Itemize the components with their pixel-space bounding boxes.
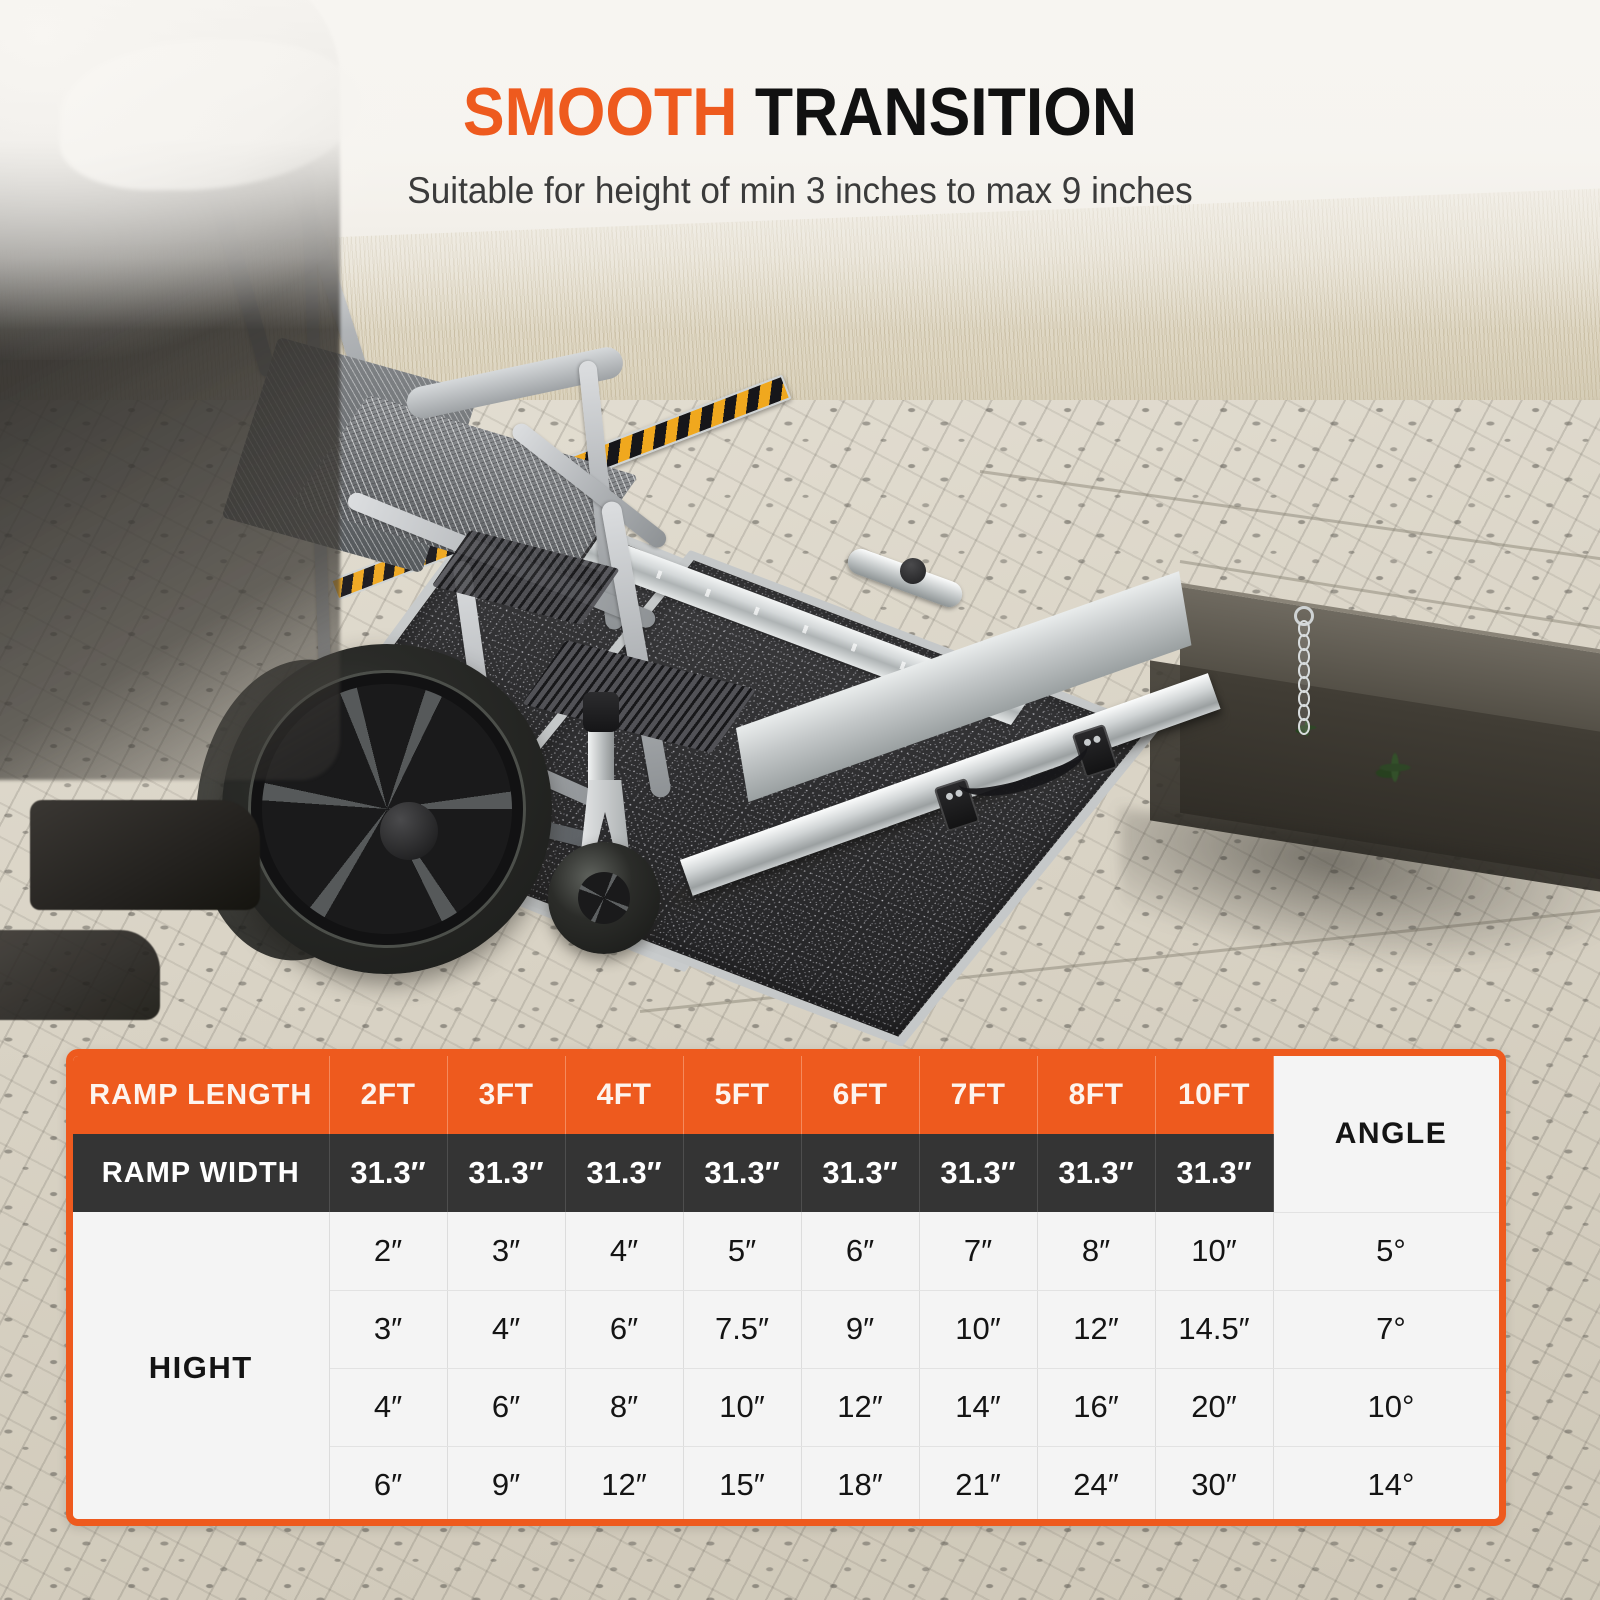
cell-angle-1: 5°: [1273, 1212, 1506, 1290]
header-ramp-length-8: 10FT: [1155, 1056, 1273, 1134]
cell-ramp-width-6: 31.3″: [919, 1134, 1037, 1212]
cell-angle-4: 14°: [1273, 1446, 1506, 1524]
spec-table-card: RAMP LENGTH2FT3FT4FT5FT6FT7FT8FT10FTANGL…: [66, 1049, 1506, 1526]
cell-height-r1-c8: 10″: [1155, 1212, 1273, 1290]
header-ramp-length-3: 4FT: [565, 1056, 683, 1134]
cell-height-r4-c3: 12″: [565, 1446, 683, 1524]
label-ramp-length: RAMP LENGTH: [73, 1056, 329, 1134]
cell-ramp-width-7: 31.3″: [1037, 1134, 1155, 1212]
cell-height-r3-c8: 20″: [1155, 1368, 1273, 1446]
cell-ramp-width-8: 31.3″: [1155, 1134, 1273, 1212]
cell-height-r1-c4: 5″: [683, 1212, 801, 1290]
attendant-shoe-second: [0, 930, 160, 1020]
cell-height-r3-c1: 4″: [329, 1368, 447, 1446]
cell-height-r2-c1: 3″: [329, 1290, 447, 1368]
header-ramp-length-7: 8FT: [1037, 1056, 1155, 1134]
cell-angle-2: 7°: [1273, 1290, 1506, 1368]
spec-row-height-1: HIGHT2″3″4″5″6″7″8″10″5°: [73, 1212, 1506, 1290]
cell-height-r2-c7: 12″: [1037, 1290, 1155, 1368]
cell-height-r3-c5: 12″: [801, 1368, 919, 1446]
cell-height-r4-c1: 6″: [329, 1446, 447, 1524]
spec-table: RAMP LENGTH2FT3FT4FT5FT6FT7FT8FT10FTANGL…: [73, 1056, 1506, 1525]
cell-height-r1-c7: 8″: [1037, 1212, 1155, 1290]
cell-height-r3-c4: 10″: [683, 1368, 801, 1446]
page-title-accent: SMOOTH: [463, 74, 738, 150]
cell-height-r4-c8: 30″: [1155, 1446, 1273, 1524]
wheel-hub: [380, 802, 438, 860]
safety-chain: [1298, 620, 1310, 740]
cell-height-r2-c8: 14.5″: [1155, 1290, 1273, 1368]
cell-height-r2-c6: 10″: [919, 1290, 1037, 1368]
cell-height-r3-c2: 6″: [447, 1368, 565, 1446]
label-ramp-width: RAMP WIDTH: [73, 1134, 329, 1212]
cell-ramp-width-5: 31.3″: [801, 1134, 919, 1212]
cell-height-r3-c6: 14″: [919, 1368, 1037, 1446]
page-title-main: TRANSITION: [755, 74, 1137, 150]
cell-ramp-width-3: 31.3″: [565, 1134, 683, 1212]
spec-row-ramp-length: RAMP LENGTH2FT3FT4FT5FT6FT7FT8FT10FTANGL…: [73, 1056, 1506, 1134]
cell-height-r4-c6: 21″: [919, 1446, 1037, 1524]
cell-height-r4-c7: 24″: [1037, 1446, 1155, 1524]
label-height: HIGHT: [73, 1212, 329, 1524]
cell-height-r4-c2: 9″: [447, 1446, 565, 1524]
cell-height-r1-c1: 2″: [329, 1212, 447, 1290]
page-subtitle: Suitable for height of min 3 inches to m…: [40, 170, 1560, 212]
page-title: SMOOTH TRANSITION: [64, 78, 1536, 146]
cell-ramp-width-1: 31.3″: [329, 1134, 447, 1212]
header-ramp-length-6: 7FT: [919, 1056, 1037, 1134]
cell-ramp-width-2: 31.3″: [447, 1134, 565, 1212]
cell-height-r3-c7: 16″: [1037, 1368, 1155, 1446]
cell-height-r1-c3: 4″: [565, 1212, 683, 1290]
cell-height-r1-c2: 3″: [447, 1212, 565, 1290]
cell-height-r1-c5: 6″: [801, 1212, 919, 1290]
attendant-shoe: [30, 800, 260, 910]
header-ramp-length-4: 5FT: [683, 1056, 801, 1134]
cell-ramp-width-4: 31.3″: [683, 1134, 801, 1212]
cell-height-r1-c6: 7″: [919, 1212, 1037, 1290]
header-ramp-length-2: 3FT: [447, 1056, 565, 1134]
cell-height-r3-c3: 8″: [565, 1368, 683, 1446]
cell-height-r2-c4: 7.5″: [683, 1290, 801, 1368]
header-ramp-length-5: 6FT: [801, 1056, 919, 1134]
cell-height-r2-c2: 4″: [447, 1290, 565, 1368]
label-angle: ANGLE: [1273, 1056, 1506, 1212]
cell-height-r2-c5: 9″: [801, 1290, 919, 1368]
header-ramp-length-1: 2FT: [329, 1056, 447, 1134]
header-block: SMOOTH TRANSITION Suitable for height of…: [0, 0, 1600, 212]
cell-angle-3: 10°: [1273, 1368, 1506, 1446]
cell-height-r2-c3: 6″: [565, 1290, 683, 1368]
front-caster-wheel: [548, 842, 660, 954]
cell-height-r4-c5: 18″: [801, 1446, 919, 1524]
cell-height-r4-c4: 15″: [683, 1446, 801, 1524]
